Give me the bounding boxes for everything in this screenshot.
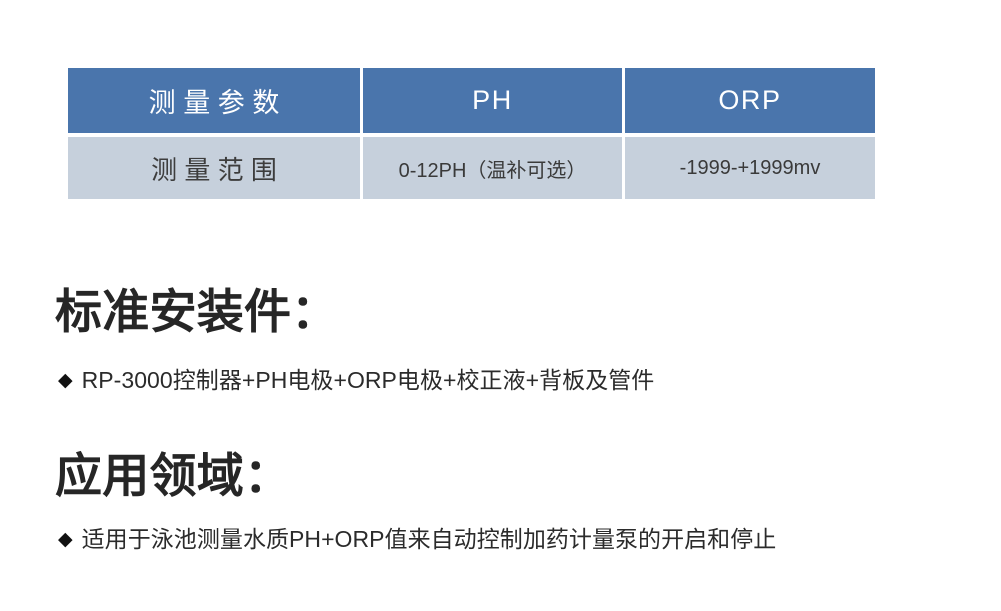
- table-header-ph: PH: [363, 68, 625, 133]
- section-heading-standard-install: 标准安装件：: [55, 288, 338, 335]
- bullet-text-standard-install: RP-3000控制器+PH电极+ORP电极+校正液+背板及管件: [82, 369, 655, 392]
- bullet-item-standard-install: ◆ RP-3000控制器+PH电极+ORP电极+校正液+背板及管件: [58, 369, 654, 392]
- cell-ph-range: 0-12PH（温补可选）: [363, 137, 625, 199]
- cell-orp-range: -1999-+1999mv: [625, 137, 875, 199]
- diamond-bullet-icon: ◆: [58, 530, 73, 549]
- diamond-bullet-icon: ◆: [58, 371, 73, 390]
- table-header-parameter: 测量参数: [68, 68, 363, 133]
- table-header-orp: ORP: [625, 68, 875, 133]
- section-heading-application-fields: 应用领域：: [55, 452, 291, 499]
- table-header-row: 测量参数 PH ORP: [68, 68, 875, 133]
- bullet-item-application-fields: ◆ 适用于泳池测量水质PH+ORP值来自动控制加药计量泵的开启和停止: [58, 528, 776, 551]
- cell-parameter-name: 测量范围: [68, 137, 363, 199]
- bullet-text-application-fields: 适用于泳池测量水质PH+ORP值来自动控制加药计量泵的开启和停止: [82, 528, 777, 551]
- specification-table: 测量参数 PH ORP 测量范围 0-12PH（温补可选） -1999-+199…: [68, 68, 875, 199]
- table-row: 测量范围 0-12PH（温补可选） -1999-+1999mv: [68, 137, 875, 199]
